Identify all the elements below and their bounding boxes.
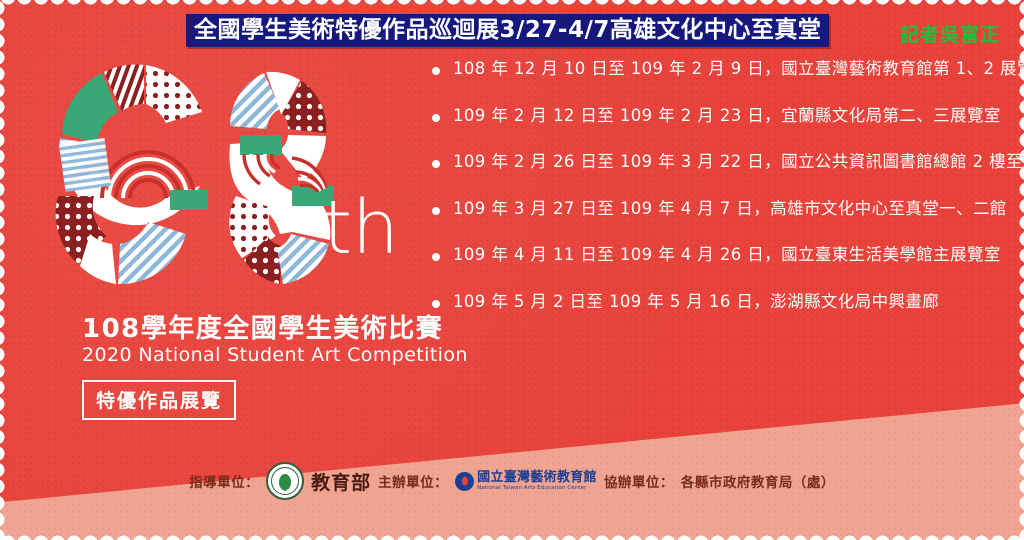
competition-logo-block: th 108學年度全國學生美術比賽 2020 National Student … <box>40 46 390 416</box>
reporter-credit: 記者吳富正 <box>900 20 1000 47</box>
bullet-dot-icon <box>432 207 440 215</box>
competition-title-cn: 108學年度全國學生美術比賽 <box>82 308 443 345</box>
logo-68-graphic <box>40 46 370 306</box>
headline-banner: 全國學生美術特優作品巡迴展3/27-4/7高雄文化中心至真堂 <box>186 14 829 47</box>
bullet-dot-icon <box>432 160 440 168</box>
exhibition-schedule-list: 108 年 12 月 10 日至 109 年 2 月 9 日，國立臺灣藝術教育館… <box>432 58 992 337</box>
bullet-dot-icon <box>432 253 440 261</box>
bullet-dot-icon <box>432 67 440 75</box>
schedule-text: 109 年 5 月 2 日至 109 年 5 月 16 日，澎湖縣文化局中興畫廊 <box>453 291 939 313</box>
headline-text: 全國學生美術特優作品巡迴展3/27-4/7高雄文化中心至真堂 <box>194 17 821 43</box>
exhibition-badge: 特優作品展覽 <box>82 380 236 420</box>
ordinal-suffix-th: th <box>323 191 399 265</box>
list-item: 109 年 2 月 26 日至 109 年 3 月 22 日，國立公共資訊圖書館… <box>432 151 992 173</box>
list-item: 109 年 2 月 12 日至 109 年 2 月 23 日，宜蘭縣文化局第二、… <box>432 105 992 127</box>
schedule-text: 109 年 2 月 12 日至 109 年 2 月 23 日，宜蘭縣文化局第二、… <box>453 105 1001 127</box>
advisor-name: 教育部 <box>311 468 371 495</box>
coorganizer-label: 協辦單位： <box>604 471 674 491</box>
schedule-text: 109 年 2 月 26 日至 109 年 3 月 22 日，國立公共資訊圖書館… <box>453 151 1024 173</box>
list-item: 109 年 5 月 2 日至 109 年 5 月 16 日，澎湖縣文化局中興畫廊 <box>432 291 992 313</box>
poster-image: th 108學年度全國學生美術比賽 2020 National Student … <box>0 0 1024 540</box>
ntaec-logo: 國立臺灣藝術教育館 National Taiwan Arts Education… <box>455 471 597 491</box>
bullet-dot-icon <box>432 114 440 122</box>
digit-6 <box>56 64 208 284</box>
competition-title-en: 2020 National Student Art Competition <box>82 344 468 366</box>
stamp-body: th 108學年度全國學生美術比賽 2020 National Student … <box>0 0 1024 540</box>
digit-8 <box>229 72 334 284</box>
schedule-text: 109 年 3 月 27 日至 109 年 4 月 7 日，高雄市文化中心至真堂… <box>453 198 1007 220</box>
advisor-label: 指導單位： <box>189 471 259 491</box>
ntaec-wordmark: 國立臺灣藝術教育館 National Taiwan Arts Education… <box>477 471 597 491</box>
list-item: 109 年 3 月 27 日至 109 年 4 月 7 日，高雄市文化中心至真堂… <box>432 198 992 220</box>
bullet-dot-icon <box>432 300 440 308</box>
organizer-label: 主辦單位： <box>378 471 448 491</box>
organizer-name-cn: 國立臺灣藝術教育館 <box>477 471 597 484</box>
schedule-text: 108 年 12 月 10 日至 109 年 2 月 9 日，國立臺灣藝術教育館… <box>453 58 1024 80</box>
sponsors-footer: 指導單位： 教育部 主辦單位： 國立臺灣藝術教育館 National Taiwa… <box>0 462 1024 500</box>
sixty-eighth-logo-mark: th <box>40 46 370 306</box>
seal-plant <box>279 474 291 490</box>
ntaec-flame-icon <box>455 472 474 491</box>
organizer-name-en: National Taiwan Arts Education Center <box>477 486 597 492</box>
list-item: 108 年 12 月 10 日至 109 年 2 月 9 日，國立臺灣藝術教育館… <box>432 58 992 80</box>
list-item: 109 年 4 月 11 日至 109 年 4 月 26 日，國立臺東生活美學館… <box>432 244 992 266</box>
ministry-of-education-seal-icon <box>266 462 304 500</box>
schedule-text: 109 年 4 月 11 日至 109 年 4 月 26 日，國立臺東生活美學館… <box>453 244 1001 266</box>
coorganizer-name: 各縣市政府教育局（處） <box>681 471 835 491</box>
